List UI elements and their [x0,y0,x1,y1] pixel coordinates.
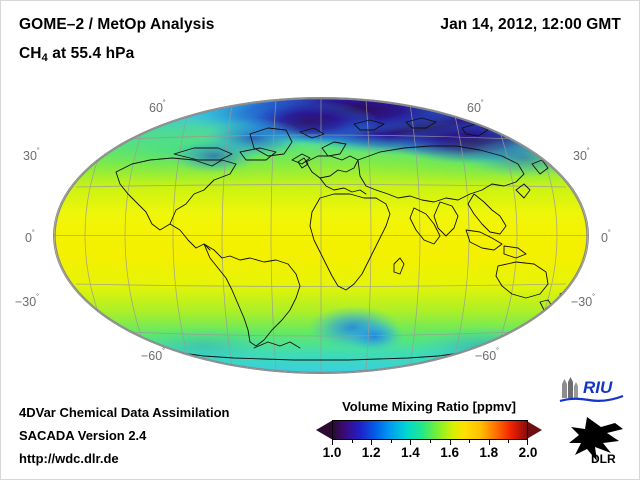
colorbar-label-1.6: 1.6 [440,445,459,460]
dlr-wordmark: DLR [591,452,616,465]
colorbar-label-1.8: 1.8 [479,445,498,460]
colorbar-gradient [332,420,528,440]
species-name: CH [19,45,42,62]
page-title: GOME–2 / MetOp Analysis [19,16,215,34]
colorbar-minor-tick [469,440,470,443]
colorbar-title: Volume Mixing Ratio [ppmv] [305,399,553,414]
colorbar-label-1.0: 1.0 [323,445,342,460]
colorbar-minor-tick [508,440,509,443]
colorbar-scale [305,420,553,440]
lat-label-left-30: 30˚ [23,147,40,163]
mollweide-globe [54,98,588,373]
colorbar-minor-tick [352,440,353,443]
colorbar-under-arrow-icon [316,420,333,440]
species-subtitle: CH4 at 55.4 hPa [19,45,134,64]
globe-clip [54,98,588,373]
colorbar-minor-tick [430,440,431,443]
colorbar-minor-tick [391,440,392,443]
footer-line-version: SACADA Version 2.4 [19,424,230,447]
colorbar: Volume Mixing Ratio [ppmv] 1.01.21.41.61… [301,399,561,463]
colorbar-label-1.2: 1.2 [362,445,381,460]
riu-towers-icon [562,377,578,398]
colorbar-label-2.0: 2.0 [519,445,538,460]
datetime-label: Jan 14, 2012, 12:00 GMT [440,16,621,34]
plot-frame: GOME–2 / MetOp Analysis CH4 at 55.4 hPa … [0,0,640,480]
lat-label-left-0: 0˚ [25,229,35,245]
footer-line-method: 4DVar Chemical Data Assimilation [19,401,230,424]
footer-text-block: 4DVar Chemical Data Assimilation SACADA … [19,401,230,470]
footer-line-url[interactable]: http://wdc.dlr.de [19,447,230,470]
riu-logo: RIU [559,376,629,406]
colorbar-label-1.4: 1.4 [401,445,420,460]
lat-label-right-0: 0˚ [601,229,611,245]
colorbar-tick-labels: 1.01.21.41.61.82.0 [305,445,553,463]
lat-label-left-m30: −30˚ [15,293,39,309]
species-level: at 55.4 hPa [48,45,135,62]
map-panel: 60˚ 30˚ 0˚ −30˚ −60˚ 60˚ 30˚ 0˚ −30˚ −60… [1,81,640,386]
dlr-logo: DLR [567,413,629,465]
riu-wordmark: RIU [583,378,613,397]
ch4-field [54,98,588,373]
